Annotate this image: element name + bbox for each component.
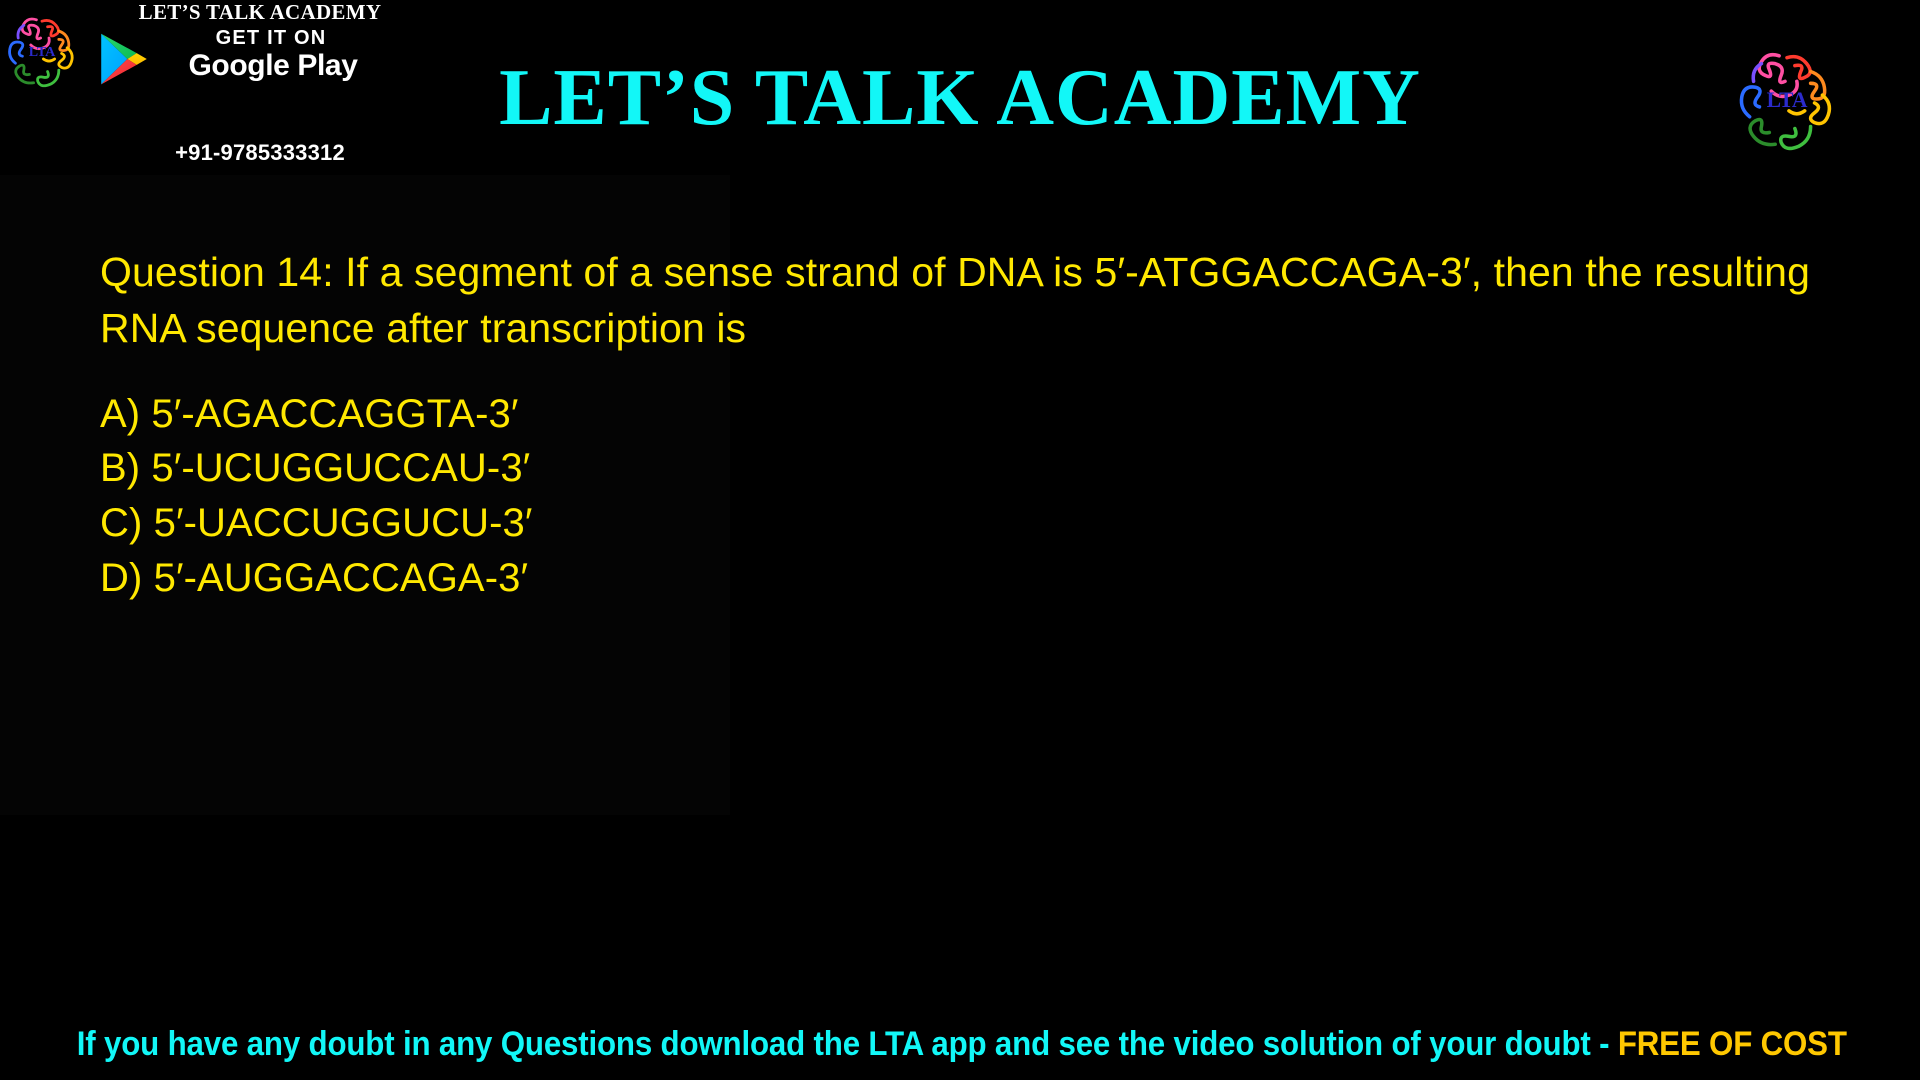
get-it-on-label: GET IT ON [100,27,420,50]
page-title: LET’S TALK ACADEMY [0,58,1920,138]
option-c[interactable]: C) 5′-UACCUGGUCU-3′ [100,496,1860,551]
option-b[interactable]: B) 5′-UCUGGUCCAU-3′ [100,441,1860,496]
footer-message: If you have any doubt in any Questions d… [77,1025,1618,1063]
option-d[interactable]: D) 5′-AUGGACCAGA-3′ [100,551,1860,606]
options-list: A) 5′-AGACCAGGTA-3′ B) 5′-UCUGGUCCAU-3′ … [100,387,1860,606]
protein-ribbon-icon: LTA [1728,42,1846,160]
question-content: Question 14: If a segment of a sense str… [100,245,1860,606]
footer-highlight: FREE OF COST [1618,1025,1847,1063]
brand-name: LET’S TALK ACADEMY [100,0,420,25]
option-a[interactable]: A) 5′-AGACCAGGTA-3′ [100,387,1860,442]
contact-phone: +91-9785333312 [100,140,420,166]
lta-logo-right: LTA [1728,42,1846,160]
logo-center-label: LTA [1767,88,1808,112]
question-text: Question 14: If a segment of a sense str… [100,245,1825,357]
footer-banner: If you have any doubt in any Questions d… [77,1025,1843,1064]
page-header: LTA [0,0,1920,180]
